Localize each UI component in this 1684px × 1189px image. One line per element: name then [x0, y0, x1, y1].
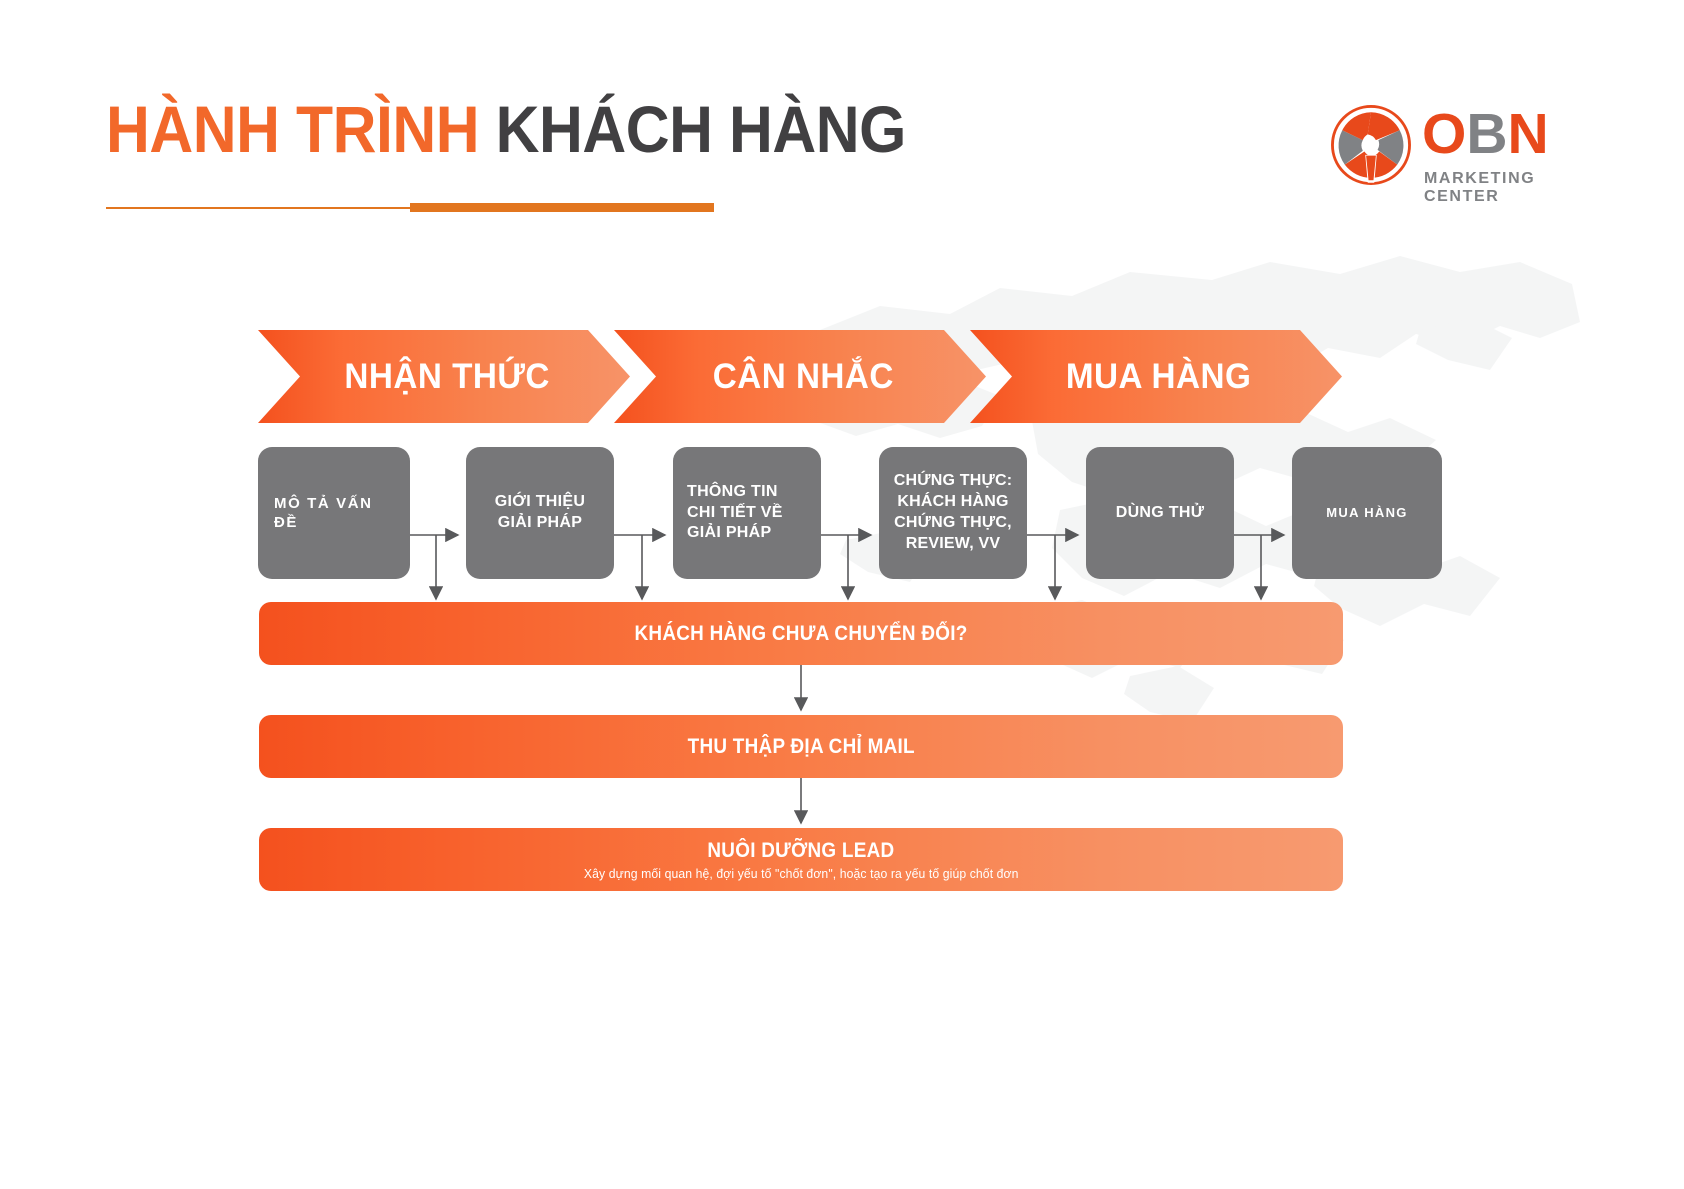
step-box-label: MUA HÀNG — [1302, 505, 1432, 522]
bar-unconverted-customer[interactable]: KHÁCH HÀNG CHƯA CHUYỂN ĐỔI? — [259, 602, 1343, 665]
step-box-label: GIỚI THIỆU GIẢI PHÁP — [478, 492, 602, 534]
bar-subtitle: Xây dựng mối quan hệ, đợi yếu tố "chốt đ… — [584, 866, 1019, 881]
title-underline — [106, 203, 714, 213]
page-title: HÀNH TRÌNH KHÁCH HÀNG — [106, 96, 906, 162]
step-box-row: MÔ TẢ VẤN ĐỀ GIỚI THIỆU GIẢI PHÁP THÔNG … — [258, 447, 1342, 579]
stage-chevron-consideration: CÂN NHẮC — [614, 330, 986, 423]
logo-letter-n: N — [1508, 102, 1549, 166]
bar-title: THU THẬP ĐỊA CHỈ MAIL — [687, 735, 914, 759]
stage-chevron-awareness: NHẬN THỨC — [258, 330, 630, 423]
step-box-label: CHỨNG THỰC: KHÁCH HÀNG CHỨNG THỰC, REVIE… — [887, 471, 1019, 554]
title-underline-thick — [410, 203, 714, 212]
header: HÀNH TRÌNH KHÁCH HÀNG — [0, 0, 1684, 230]
bar-title: NUÔI DƯỠNG LEAD — [707, 839, 894, 863]
step-box-problem[interactable]: MÔ TẢ VẤN ĐỀ — [258, 447, 410, 579]
stage-chevron-label: CÂN NHẮC — [712, 357, 893, 397]
title-underline-thin — [106, 207, 410, 209]
aperture-shutter-icon — [1330, 104, 1412, 186]
bar-nurture-lead[interactable]: NUÔI DƯỠNG LEAD Xây dựng mối quan hệ, đợ… — [259, 828, 1343, 891]
step-box-testimonials[interactable]: CHỨNG THỰC: KHÁCH HÀNG CHỨNG THỰC, REVIE… — [879, 447, 1027, 579]
step-box-label: THÔNG TIN CHI TIẾT VỀ GIẢI PHÁP — [687, 482, 807, 544]
page-title-rest: KHÁCH HÀNG — [496, 92, 906, 166]
step-box-purchase[interactable]: MUA HÀNG — [1292, 447, 1442, 579]
infographic-canvas: HÀNH TRÌNH KHÁCH HÀNG — [0, 0, 1684, 1189]
stage-chevron-row: NHẬN THỨC CÂN NHẮC MUA HÀNG — [258, 330, 1342, 423]
bar-collect-email[interactable]: THU THẬP ĐỊA CHỈ MAIL — [259, 715, 1343, 778]
logo: OBN MARKETING CENTER — [1330, 104, 1595, 196]
page-title-highlight: HÀNH TRÌNH — [106, 92, 479, 166]
stage-chevron-purchase: MUA HÀNG — [970, 330, 1342, 423]
logo-letter-b: B — [1466, 102, 1507, 166]
step-box-label: MÔ TẢ VẤN ĐỀ — [274, 494, 394, 533]
logo-wordmark: OBN — [1422, 106, 1549, 163]
step-box-trial[interactable]: DÙNG THỬ — [1086, 447, 1234, 579]
logo-letter-o: O — [1422, 102, 1466, 166]
step-box-label: DÙNG THỬ — [1096, 503, 1224, 524]
bar-title: KHÁCH HÀNG CHƯA CHUYỂN ĐỔI? — [634, 622, 967, 646]
step-box-solution-details[interactable]: THÔNG TIN CHI TIẾT VỀ GIẢI PHÁP — [673, 447, 821, 579]
step-box-solution-intro[interactable]: GIỚI THIỆU GIẢI PHÁP — [466, 447, 614, 579]
logo-tagline: MARKETING CENTER — [1424, 170, 1595, 206]
stage-chevron-label: NHẬN THỨC — [344, 357, 549, 397]
stage-chevron-label: MUA HÀNG — [1066, 357, 1251, 397]
